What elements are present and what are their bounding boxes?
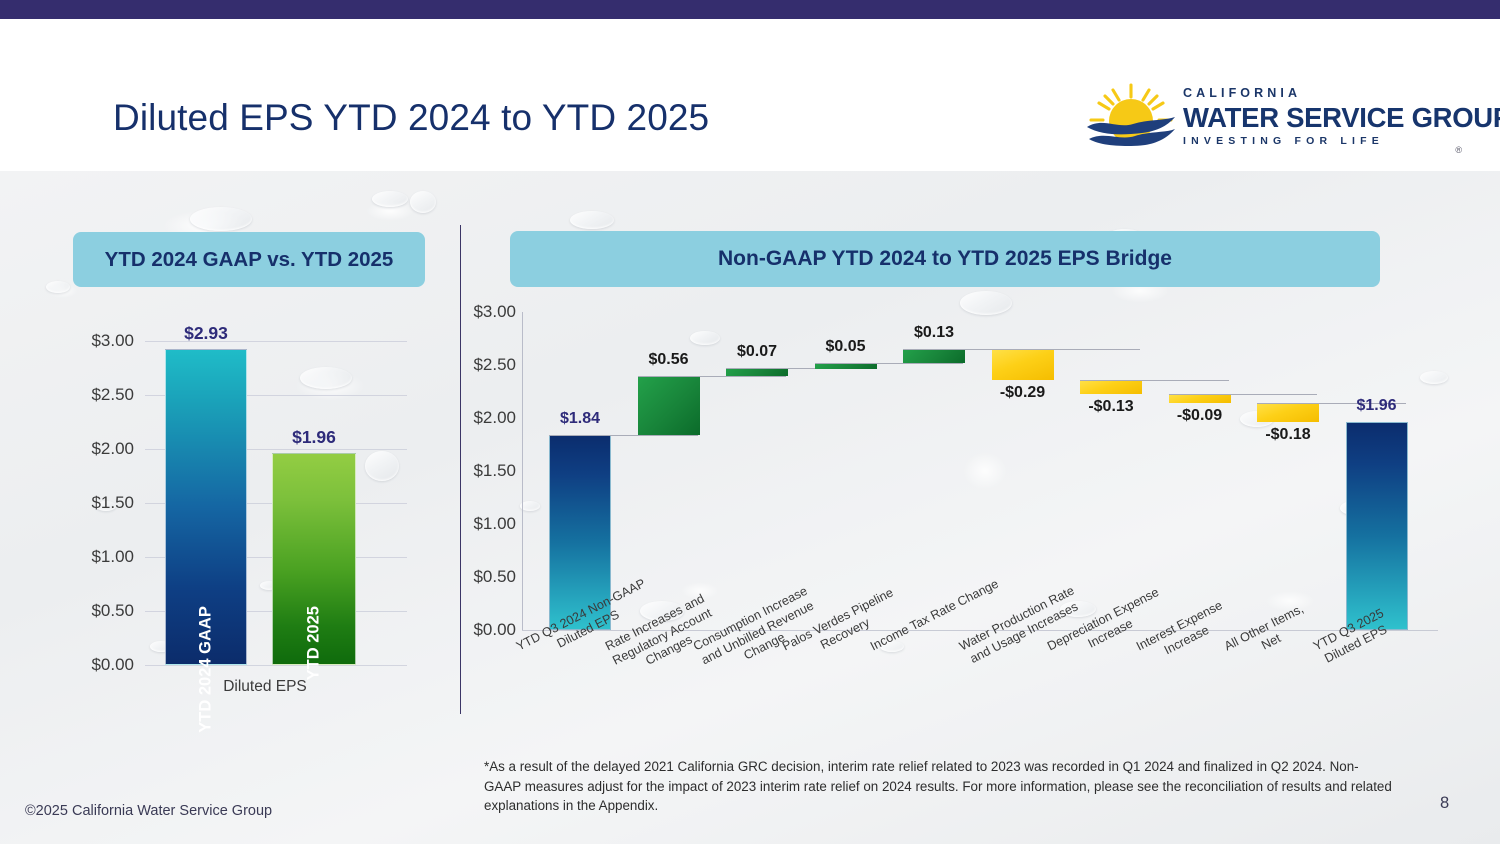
waterfall-value-label: $1.96 [1322,397,1432,415]
waterfall-connector [549,435,698,436]
left-y-tick: $0.50 [62,601,134,621]
left-y-tick: $0.00 [62,655,134,675]
eps-bridge-waterfall-chart: $3.00$2.50$2.00$1.50$1.00$0.50$0.00 $1.8… [460,0,1500,673]
waterfall-connector [992,349,1141,350]
left-y-tick: $2.00 [62,439,134,459]
bridge-y-tick: $2.50 [450,355,516,375]
waterfall-connector [1169,394,1318,395]
bridge-y-tick: $1.50 [450,461,516,481]
waterfall-connector [638,376,787,377]
waterfall-bar [992,349,1054,380]
left-gridline [145,665,407,666]
waterfall-connector [815,363,964,364]
waterfall-bar [1169,394,1231,404]
footnote: *As a result of the delayed 2021 Califor… [484,757,1394,816]
left-bar-series-label: YTD 2025 [305,469,324,681]
left-y-tick: $1.50 [62,493,134,513]
waterfall-bar [1257,403,1319,422]
waterfall-bar [726,368,788,375]
waterfall-bar [903,349,965,363]
waterfall-connector [1080,380,1229,381]
left-y-tick: $2.50 [62,385,134,405]
copyright-text: ©2025 California Water Service Group [25,803,272,819]
waterfall-bar [1080,380,1142,394]
bridge-chart-axis-line [522,312,523,630]
left-bar-value-label: $2.93 [156,323,256,344]
bridge-y-tick: $1.00 [450,514,516,534]
left-y-tick: $1.00 [62,547,134,567]
bridge-y-tick: $2.00 [450,408,516,428]
bridge-y-tick: $0.00 [450,620,516,640]
waterfall-bar [1346,422,1408,630]
page-number: 8 [1440,794,1449,813]
waterfall-value-label: -$0.09 [1145,407,1255,425]
waterfall-value-label: $0.13 [879,324,989,342]
left-chart-x-axis-label: Diluted EPS [170,678,360,696]
bridge-y-tick: $0.50 [450,567,516,587]
slide: Diluted EPS YTD 2024 to YTD 2025 [0,0,1500,844]
left-bar-value-label: $1.96 [264,427,364,448]
bridge-y-tick: $3.00 [450,302,516,322]
bridge-x-tick: All Other Items,Net [1222,602,1314,669]
waterfall-bar [638,376,700,435]
waterfall-value-label: -$0.18 [1233,426,1343,444]
gaap-comparison-chart: $3.00$2.50$2.00$1.50$1.00$0.50$0.00 YTD … [0,0,460,673]
left-y-tick: $3.00 [62,331,134,351]
waterfall-value-label: $1.84 [525,410,635,428]
